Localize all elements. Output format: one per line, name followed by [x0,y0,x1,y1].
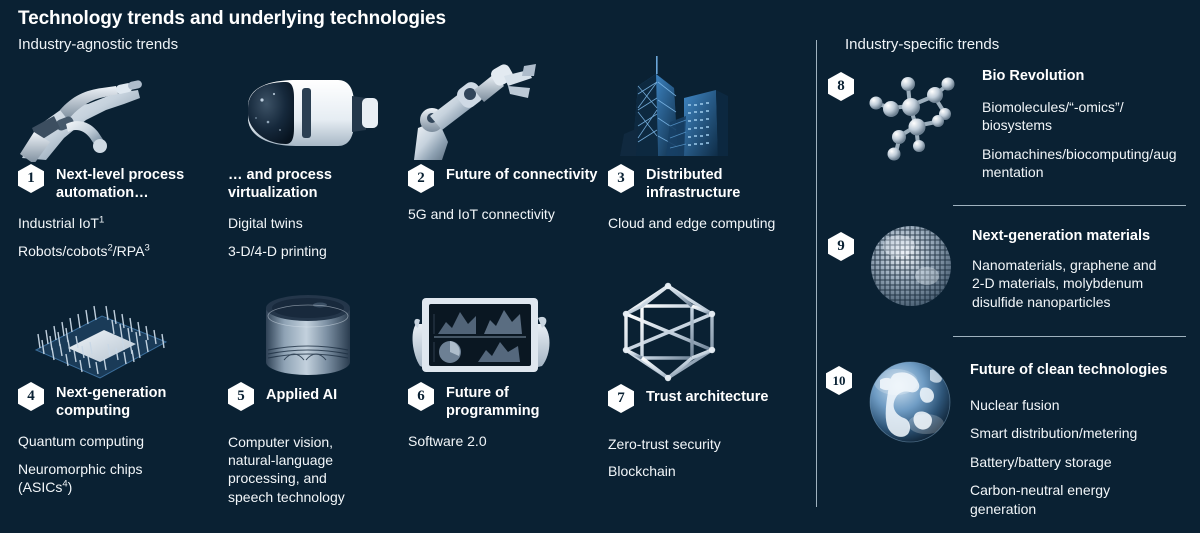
trend-title-8: Bio Revolution [982,68,1200,84]
robotic-arm-image [408,62,583,162]
trend-title-9: Next-generation materials [972,228,1200,244]
trend-title-1: Next-level process automation… [56,164,218,202]
trend-title-10: Future of clean technologies [970,362,1200,378]
trend-card-1-head: 1 Next-level process automation… [18,164,218,202]
trend-text-9: Next-generation materials Nanomaterials,… [972,224,1200,311]
trend-line: Robots/cobots2/RPA3 [18,242,218,260]
trend-card-3-head: 3 Distributed infrastructure [608,164,803,202]
right-section-subtitle: Industry-specific trends [845,36,999,53]
left-section-subtitle: Industry-agnostic trends [18,36,178,53]
trend-title-4: Next-generation computing [56,382,218,420]
right-row-divider-2 [953,336,1186,337]
trend-line: Biomolecules/“-omics”/biosystems [982,98,1200,135]
trend-card-virtualization-head: … and process virtualization [228,164,408,202]
trend-line: Biomachines/biocomputing/augmentation [982,145,1200,182]
trend-card-7[interactable]: 7 Trust architecture Zero-trust security… [608,282,803,480]
slide-root: Technology trends and underlying technol… [0,0,1200,533]
trend-number-badge-3: 3 [608,164,634,193]
wireframe-polyhedron-image [608,282,783,382]
trend-title-7: Trust architecture [646,384,769,407]
trend-card-4[interactable]: 4 Next-generation computing Quantum comp… [18,288,218,496]
trend-lines-6: Software 2.0 [408,432,598,450]
trend-line: Computer vision,natural-languageprocessi… [228,433,408,506]
trend-card-4-head: 4 Next-generation computing [18,382,218,420]
trend-line: Neuromorphic chips(ASICs4) [18,460,218,496]
trend-number-badge-4: 4 [18,382,44,411]
trend-line: Digital twins [228,214,408,232]
trend-lines-1: Industrial IoT1 Robots/cobots2/RPA3 [18,214,218,259]
trend-card-8[interactable]: 8 [828,64,1200,182]
trend-card-6[interactable]: 6 Future of programming Software 2.0 [408,288,598,451]
trend-title-5: Applied AI [266,382,337,405]
section-vertical-divider [816,40,817,507]
trend-lines-3: Cloud and edge computing [608,214,803,232]
trend-line: Industrial IoT1 [18,214,218,232]
trend-title-virtualization: … and process virtualization [228,164,408,202]
trend-card-5[interactable]: 5 Applied AI Computer vision,natural-lan… [228,288,408,506]
trend-card-6-head: 6 Future of programming [408,382,598,420]
trend-card-2[interactable]: 2 Future of connectivity 5G and IoT conn… [408,62,598,223]
trend-line: Nanomaterials, graphene and2-D materials… [972,256,1200,311]
molecule-image [862,64,972,174]
nanomaterial-sphere-image [869,224,954,309]
trend-lines-5: Computer vision,natural-languageprocessi… [228,433,408,506]
trend-card-2-head: 2 Future of connectivity [408,164,598,193]
trend-line: Cloud and edge computing [608,214,803,232]
trend-line: 5G and IoT connectivity [408,205,598,223]
trend-line: 3-D/4-D printing [228,242,408,260]
trend-line: Carbon-neutral energygeneration [970,481,1200,518]
trend-card-7-head: 7 Trust architecture [608,384,803,413]
trend-line: Zero-trust security [608,435,803,453]
trend-card-5-head: 5 Applied AI [228,382,408,411]
trend-number-badge-1: 1 [18,164,44,193]
smart-speaker-image [228,288,403,380]
trend-number-badge-2: 2 [408,164,434,193]
trend-number-badge-9: 9 [828,232,854,261]
trend-line: Quantum computing [18,432,218,450]
trend-lines-virtualization: Digital twins 3-D/4-D printing [228,214,408,259]
right-row-divider-1 [953,205,1186,206]
trend-card-1[interactable]: 1 Next-level process automation… Industr… [18,62,218,260]
vr-headset-image [228,62,403,162]
trend-card-virtualization[interactable]: … and process virtualization Digital twi… [228,62,408,260]
trend-text-10: Future of clean technologies Nuclear fus… [970,358,1200,518]
trend-lines-7: Zero-trust security Blockchain [608,435,803,480]
earth-globe-image [866,358,954,446]
trend-card-3[interactable]: 3 Distributed infrastructure Cloud and e… [608,52,803,233]
trend-title-3: Distributed infrastructure [646,164,803,202]
trend-line: Blockchain [608,462,803,480]
trend-text-8: Bio Revolution Biomolecules/“-omics”/bio… [982,64,1200,182]
trend-title-2: Future of connectivity [446,164,597,185]
trend-number-badge-7: 7 [608,384,634,413]
trend-card-10[interactable]: 10 [826,358,1200,518]
trend-number-badge-10: 10 [826,366,852,395]
trend-number-badge-5: 5 [228,382,254,411]
robotic-hand-pointing-image [18,62,193,162]
trend-line: Nuclear fusion [970,396,1200,414]
trend-line: Smart distribution/metering [970,424,1200,442]
trend-lines-4: Quantum computing Neuromorphic chips(ASI… [18,432,218,496]
trend-title-6: Future of programming [446,382,598,420]
trend-number-badge-6: 6 [408,382,434,411]
page-title: Technology trends and underlying technol… [18,8,446,30]
trend-line: Software 2.0 [408,432,598,450]
skyscrapers-image [608,52,783,162]
tablet-dashboard-image [408,288,583,380]
trend-number-badge-8: 8 [828,72,854,101]
trend-card-9[interactable]: 9 [828,224,1200,311]
trend-line: Battery/battery storage [970,453,1200,471]
cpu-chip-image [18,288,193,380]
trend-lines-2: 5G and IoT connectivity [408,205,598,223]
